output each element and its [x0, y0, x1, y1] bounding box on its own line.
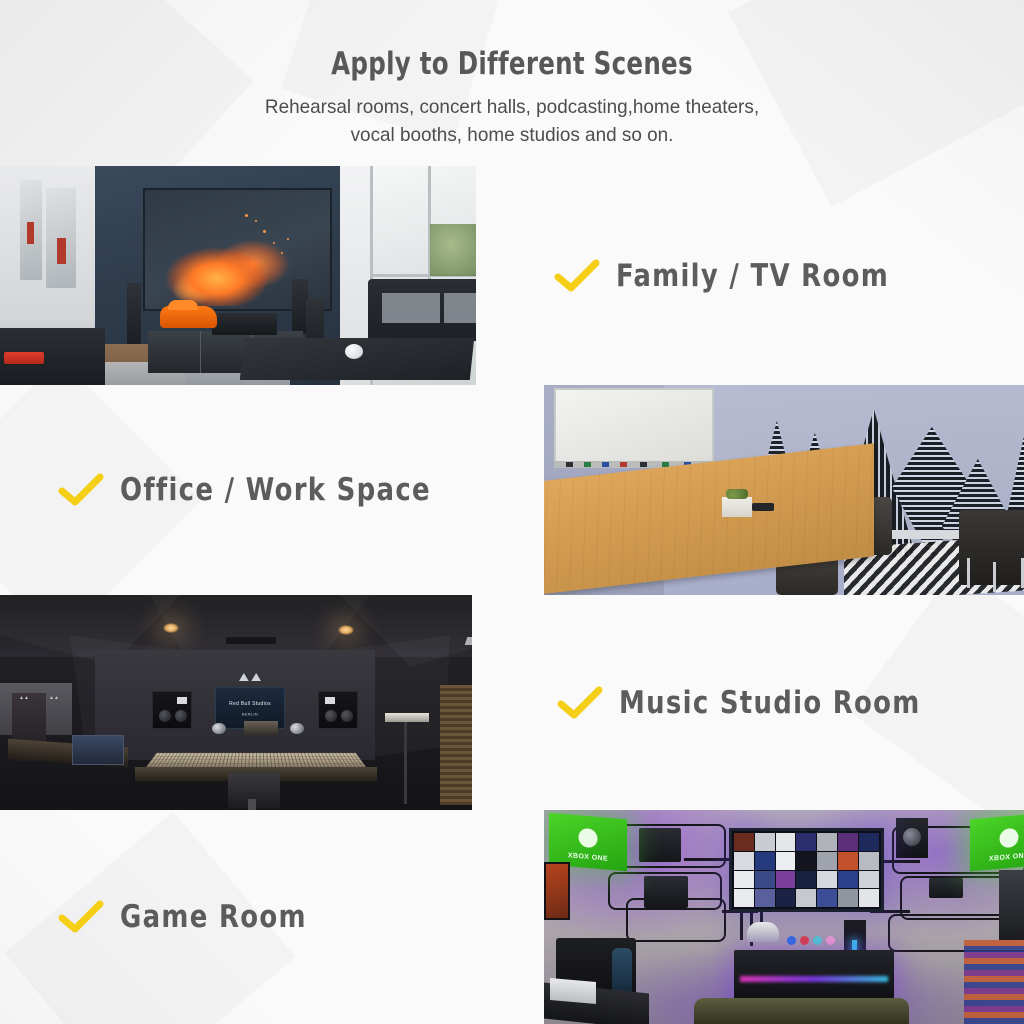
playstation-symbols-icon: [787, 936, 839, 948]
check-icon: [58, 899, 104, 935]
xbox-sign-right: XBOX ONE: [970, 813, 1024, 872]
scene-label-text: Game Room: [120, 899, 307, 935]
photo-music-studio-room: ▲▲ ▲▲ ▲▲ ▲▲ Red Bull Studios BERLIN: [0, 595, 472, 810]
subtitle-line-2: vocal booths, home studios and so on.: [351, 124, 674, 146]
infographic-page: Apply to Different Scenes Rehearsal room…: [0, 0, 1024, 1024]
scene-row-music-studio: ▲▲ ▲▲ ▲▲ ▲▲ Red Bull Studios BERLIN: [0, 595, 1024, 810]
scene-label-game-room: Game Room: [0, 810, 544, 1024]
scene-label-office-work-space: Office / Work Space: [0, 385, 544, 595]
xbox-sign-text: XBOX ONE: [989, 852, 1024, 863]
scene-label-family-tv-room: Family / TV Room: [476, 166, 1024, 385]
check-icon: [58, 472, 104, 508]
scene-row-office: Office / Work Space: [0, 385, 1024, 595]
scene-label-text: Family / TV Room: [616, 258, 889, 294]
scene-label-text: Office / Work Space: [120, 472, 431, 508]
xbox-logo-icon: [578, 827, 597, 848]
studio-screen-logo: Red Bull Studios: [229, 701, 271, 707]
check-icon: [557, 685, 603, 721]
scene-label-text: Music Studio Room: [619, 685, 921, 721]
header: Apply to Different Scenes Rehearsal room…: [0, 0, 1024, 166]
subtitle-line-1: Rehearsal rooms, concert halls, podcasti…: [265, 96, 759, 118]
studio-screen-sub: BERLIN: [242, 712, 258, 717]
game-library-screen: [729, 828, 884, 912]
photo-office-work-space: [544, 385, 1024, 595]
scene-label-music-studio-room: Music Studio Room: [472, 595, 1024, 810]
scene-row-family: Family / TV Room: [0, 166, 1024, 385]
photo-family-tv-room: [0, 166, 476, 385]
xbox-logo-icon: [999, 827, 1018, 848]
page-subtitle: Rehearsal rooms, concert halls, podcasti…: [15, 82, 1008, 149]
photo-game-room: XBOX ONE XBOX ONE: [544, 810, 1024, 1024]
scene-row-game: Game Room XBOX ONE: [0, 810, 1024, 1024]
xbox-sign-text: XBOX ONE: [568, 852, 608, 863]
check-icon: [554, 258, 600, 294]
page-title: Apply to Different Scenes: [61, 0, 962, 82]
